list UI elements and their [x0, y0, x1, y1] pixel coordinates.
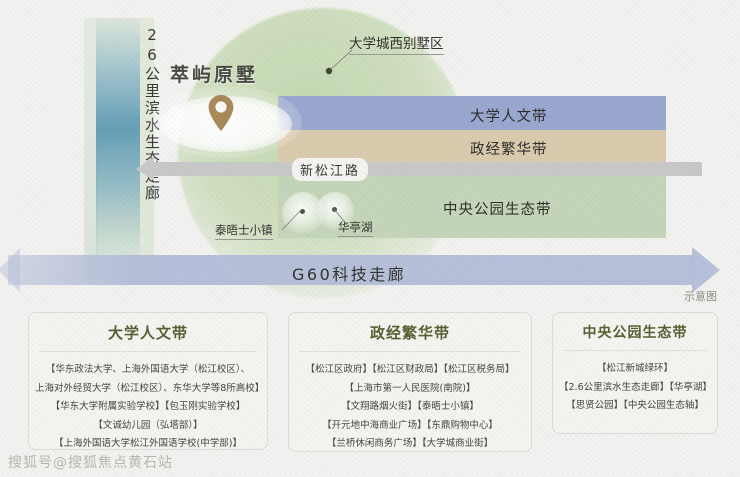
- card-line: 【文诚幼儿园（弘塔部）】: [35, 417, 261, 436]
- road-label-xin-songjiang: 新松江路: [292, 158, 368, 181]
- card-body: 【松江新城绿环】 【2.6公里滨水生态走廊】【华亭湖】 【思贤公园】【中央公园生…: [553, 351, 717, 416]
- card-line: 上海对外经贸大学（松江校区）、东华大学等8所高校】: [35, 380, 261, 399]
- callout-label-villa-district: 大学城西别墅区: [349, 32, 444, 55]
- map-pin-icon: [208, 95, 234, 131]
- card-line: 【开元地中海商业广场】【东鼎购物中心】: [295, 417, 525, 436]
- g60-arrow-head-right-icon: [692, 247, 720, 293]
- map-illustration: 26公里滨水生态走廊 大学人文带 政经繁华带 中央公园生态带 新松江路 萃屿原墅…: [0, 0, 740, 305]
- card-line: 【松江新城绿环】: [559, 360, 711, 379]
- card-line: 【思贤公园】【中央公园生态轴】: [559, 397, 711, 416]
- card-university-culture: 大学人文带 【华东政法大学、上海外国语大学（松江校区）、 上海对外经贸大学（松江…: [28, 312, 268, 450]
- band-label-park: 中央公园生态带: [443, 198, 552, 219]
- card-line: 【松江区政府】【松江区财政局】【松江区税务局】: [295, 361, 525, 380]
- card-economy-prosperity: 政经繁华带 【松江区政府】【松江区财政局】【松江区税务局】 【上海市第一人民医院…: [288, 312, 532, 452]
- band-label-university: 大学人文带: [470, 105, 548, 126]
- card-line: 【华东大学附属实验学校】【包玉刚实验学校】: [35, 398, 261, 417]
- road-arrow-head-left-icon: [136, 157, 154, 181]
- info-cards-row: 大学人文带 【华东政法大学、上海外国语大学（松江校区）、 上海对外经贸大学（松江…: [0, 312, 740, 462]
- card-line: 【上海市第一人民医院(南院)】: [295, 380, 525, 399]
- lake-label-thames: 泰晤士小镇: [215, 222, 273, 240]
- lake-dot-thames-icon: [300, 209, 305, 214]
- card-body: 【华东政法大学、上海外国语大学（松江校区）、 上海对外经贸大学（松江校区）、东华…: [29, 352, 267, 454]
- card-line: 【文翔路烟火街】【泰晤士小镇】: [295, 398, 525, 417]
- lake-dot-huating-icon: [332, 207, 337, 212]
- card-body: 【松江区政府】【松江区财政局】【松江区税务局】 【上海市第一人民医院(南院)】 …: [289, 352, 531, 454]
- g60-corridor-label: G60科技走廊: [292, 261, 406, 285]
- card-title: 大学人文带: [29, 313, 267, 351]
- card-title: 中央公园生态带: [553, 313, 717, 350]
- card-line: 【兰桥休闲商务广场】【大学城商业街】: [295, 435, 525, 454]
- project-name-label: 萃屿原墅: [170, 60, 258, 87]
- schematic-note: 示意图: [684, 288, 717, 304]
- card-title: 政经繁华带: [289, 313, 531, 351]
- band-label-economy: 政经繁华带: [470, 138, 548, 159]
- lake-label-huating: 华亭湖: [338, 219, 373, 237]
- card-line: 【上海外国语大学松江外国语学校(中学部)】: [35, 435, 261, 454]
- card-line: 【华东政法大学、上海外国语大学（松江校区）、: [35, 361, 261, 380]
- card-central-park-ecology: 中央公园生态带 【松江新城绿环】 【2.6公里滨水生态走廊】【华亭湖】 【思贤公…: [552, 312, 718, 434]
- watermark-text: 搜狐号@搜狐焦点黄石站: [8, 452, 173, 472]
- road-line: [150, 162, 702, 176]
- card-line: 【2.6公里滨水生态走廊】【华亭湖】: [559, 379, 711, 398]
